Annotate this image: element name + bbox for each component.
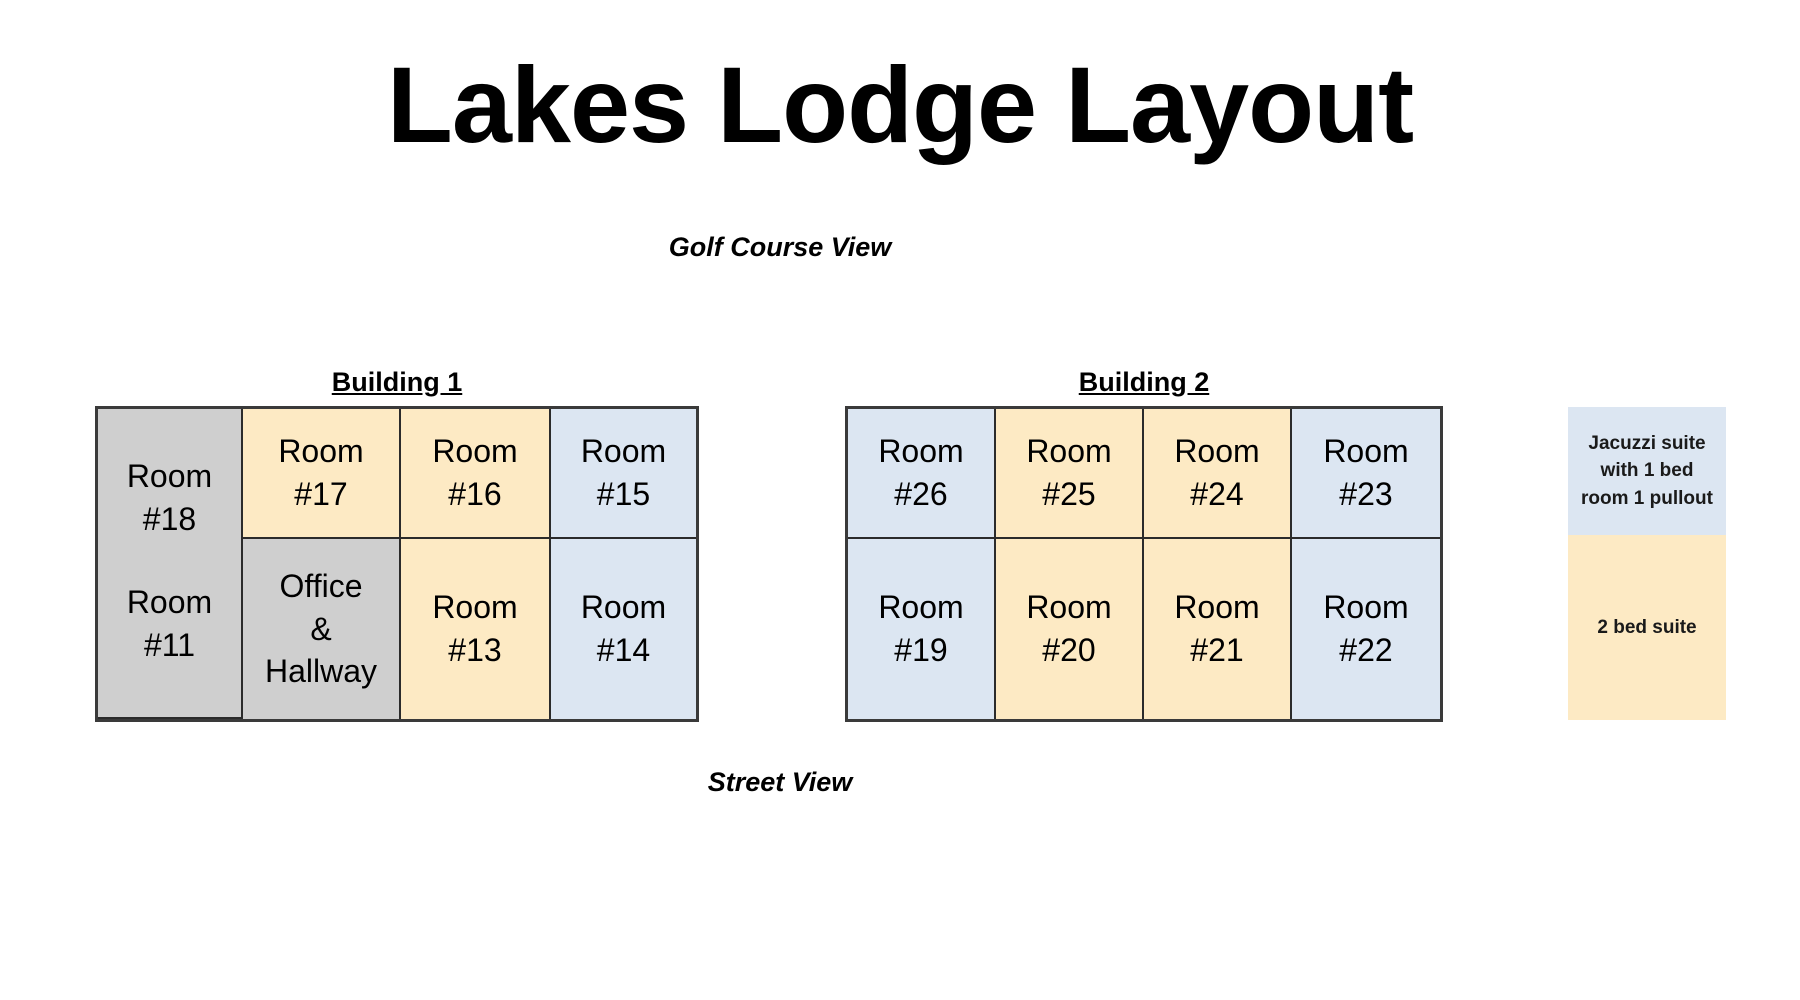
room-number: #20 [1042,629,1095,671]
room-number: #21 [1190,629,1243,671]
room-number: #23 [1339,473,1392,515]
room-number: #15 [597,473,650,515]
room-label: Room [878,430,963,472]
room-label: Room [581,586,666,628]
room-label: Room [432,586,517,628]
room-label: Room [127,455,212,497]
room-label: Room [432,430,517,472]
building-2-grid: Room #26 Room #25 Room #24 Room #23 Room… [845,406,1443,722]
room-cell-22[interactable]: Room #22 [1292,539,1440,719]
room-cell-17[interactable]: Room #17 [243,409,401,539]
room-cell-13[interactable]: Room #13 [401,539,551,719]
room-cell-16[interactable]: Room #16 [401,409,551,539]
room-label: Room [581,430,666,472]
page-title: Lakes Lodge Layout [0,48,1800,161]
room-number: #25 [1042,473,1095,515]
room-label: Room [1174,430,1259,472]
room-cell-25[interactable]: Room #25 [996,409,1144,539]
legend-item-2-bed-suite: 2 bed suite [1568,535,1726,720]
room-cell-26[interactable]: Room #26 [848,409,996,539]
room-label: Room [1026,430,1111,472]
room-cell-19[interactable]: Room #19 [848,539,996,719]
room-number: #26 [894,473,947,515]
office-label: Office [280,565,363,607]
room-number: #24 [1190,473,1243,515]
room-label: Room [1174,586,1259,628]
room-number: #13 [448,629,501,671]
ampersand: & [310,608,331,650]
legend-item-jacuzzi-suite: Jacuzzi suite with 1 bed room 1 pullout [1568,407,1726,535]
room-cell-24[interactable]: Room #24 [1144,409,1292,539]
room-label: Room [127,581,212,623]
room-number: #11 [127,624,212,666]
room-cell-18-11[interactable]: Room #18 Room #11 [98,409,243,719]
room-cell-21[interactable]: Room #21 [1144,539,1292,719]
room-number: #18 [127,498,212,540]
room-label: Room [1026,586,1111,628]
room-cell-14[interactable]: Room #14 [551,539,696,719]
building-2-section: Building 2 Room #26 Room #25 Room #24 Ro… [845,368,1443,722]
room-cell-20[interactable]: Room #20 [996,539,1144,719]
room-label: Room [278,430,363,472]
room-number: #17 [294,473,347,515]
street-view-label: Street View [0,767,1560,798]
room-number: #14 [597,629,650,671]
building-1-title: Building 1 [95,368,699,398]
room-number: #16 [448,473,501,515]
room-label: Room [878,586,963,628]
room-number: #19 [894,629,947,671]
room-cell-15[interactable]: Room #15 [551,409,696,539]
office-hallway-cell[interactable]: Office & Hallway [243,539,401,719]
building-1-section: Building 1 Room #18 Room #11 Room #17 Ro… [95,368,699,722]
room-label: Room [1323,586,1408,628]
building-2-title: Building 2 [845,368,1443,398]
room-number: #22 [1339,629,1392,671]
golf-course-view-label: Golf Course View [0,232,1560,263]
hallway-label: Hallway [265,650,377,692]
building-1-grid: Room #18 Room #11 Room #17 Room #16 Room… [95,406,699,722]
room-type-legend: Jacuzzi suite with 1 bed room 1 pullout … [1568,407,1726,720]
room-label: Room [1323,430,1408,472]
room-cell-23[interactable]: Room #23 [1292,409,1440,539]
